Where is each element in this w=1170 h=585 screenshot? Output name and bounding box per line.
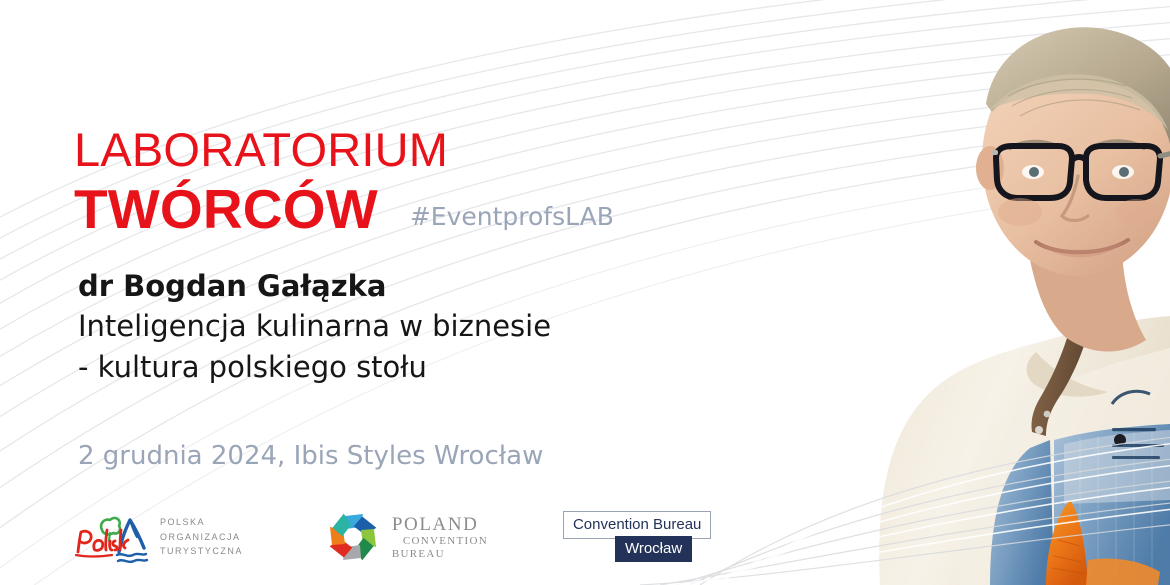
event-banner: LABORATORIUM TWÓRCÓW #EventprofsLAB dr B… [0, 0, 1170, 585]
pcb-line-3: BUREAU [392, 548, 488, 560]
polska-logo-text: POLSKA ORGANIZACJA TURYSTYCZNA [160, 515, 243, 559]
speaker-topic-line-1: Inteligencja kulinarna w biznesie [78, 306, 718, 347]
pcb-line-1: POLAND [392, 514, 488, 535]
pcb-logo-text: POLAND CONVENTION BUREAU [392, 514, 488, 560]
event-date-venue: 2 grudnia 2024, Ibis Styles Wrocław [78, 441, 543, 471]
polska-logo-mark [72, 508, 150, 566]
pcb-line-2: CONVENTION [392, 535, 488, 547]
partner-logo-strip: POLSKA ORGANIZACJA TURYSTYCZNA [72, 508, 733, 566]
speaker-name: dr Bogdan Gałązka [78, 268, 718, 306]
pot-line-3: TURYSTYCZNA [160, 544, 243, 559]
speaker-photo [840, 0, 1170, 585]
speaker-block: dr Bogdan Gałązka Inteligencja kulinarna… [78, 268, 718, 388]
cbw-bottom-label: Wrocław [615, 536, 692, 562]
headline-block: LABORATORIUM TWÓRCÓW #EventprofsLAB [74, 126, 714, 237]
headline-line-2: TWÓRCÓW [74, 182, 378, 237]
cbw-top-label: Convention Bureau [563, 511, 711, 539]
headline-line-1: LABORATORIUM [74, 126, 714, 173]
event-hashtag: #EventprofsLAB [410, 202, 614, 231]
pot-line-2: ORGANIZACJA [160, 530, 243, 545]
speaker-topic-line-2: - kultura polskiego stołu [78, 347, 718, 388]
pcb-pinwheel-icon [323, 508, 383, 566]
logo-convention-bureau-wroclaw: Convention Bureau Wrocław [563, 511, 733, 563]
logo-polska-organizacja-turystyczna: POLSKA ORGANIZACJA TURYSTYCZNA [72, 508, 243, 566]
logo-poland-convention-bureau: POLAND CONVENTION BUREAU [323, 508, 488, 566]
pot-line-1: POLSKA [160, 515, 243, 530]
